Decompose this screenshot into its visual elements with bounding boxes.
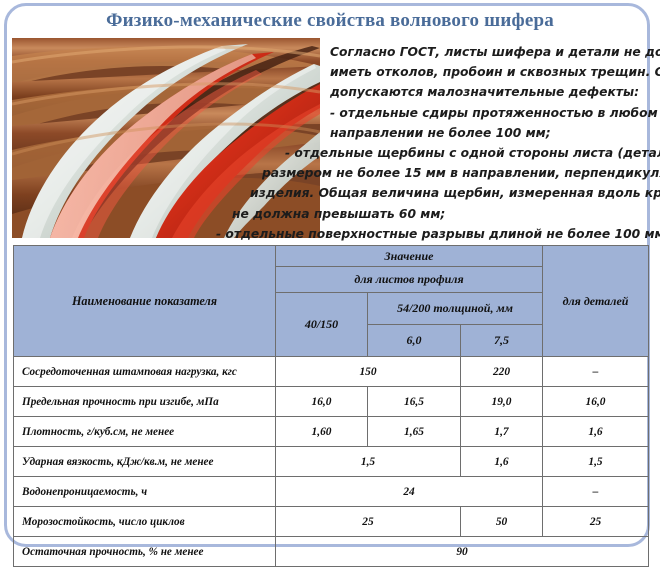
description-line: иметь отколов, пробоин и сквозных трещин… xyxy=(0,62,660,82)
row-value: 19,0 xyxy=(461,387,543,417)
header-cell-thickness-60: 6,0 xyxy=(368,325,461,357)
header-cell-value: Значение xyxy=(276,246,543,267)
header-cell-thickness-75: 7,5 xyxy=(461,325,543,357)
table-row: Сосредоточенная штамповая нагрузка, кгс … xyxy=(14,357,649,387)
row-value: 150 xyxy=(276,357,461,387)
description-line: - отдельные поверхностные разрывы длиной… xyxy=(0,224,660,244)
description-line: изделия. Общая величина щербин, измеренн… xyxy=(0,183,660,203)
row-value: 1,6 xyxy=(461,447,543,477)
row-value: 25 xyxy=(276,507,461,537)
row-value: 50 xyxy=(461,507,543,537)
row-value: 90 xyxy=(276,537,649,567)
table-row: Остаточная прочность, % не менее 90 xyxy=(14,537,649,567)
row-value: 25 xyxy=(543,507,649,537)
row-value: 1,5 xyxy=(543,447,649,477)
table-row: Морозостойкость, число циклов 25 50 25 xyxy=(14,507,649,537)
row-value: – xyxy=(543,357,649,387)
row-value: 16,0 xyxy=(276,387,368,417)
row-label: Морозостойкость, число циклов xyxy=(14,507,276,537)
header-cell-profile: для листов профиля xyxy=(276,267,543,293)
row-label: Предельная прочность при изгибе, мПа xyxy=(14,387,276,417)
table-row: Ударная вязкость, кДж/кв.м, не менее 1,5… xyxy=(14,447,649,477)
table-header-row-1: Наименование показателя Значение для дет… xyxy=(14,246,649,267)
row-value: – xyxy=(543,477,649,507)
description-line: допускаются малозначительные дефекты: xyxy=(0,82,660,102)
description-line: размером не более 15 мм в направлении, п… xyxy=(0,163,660,183)
header-cell-40-150: 40/150 xyxy=(276,293,368,357)
row-value: 1,60 xyxy=(276,417,368,447)
header-cell-54-200: 54/200 толщиной, мм xyxy=(368,293,543,325)
row-value: 1,65 xyxy=(368,417,461,447)
row-value: 1,7 xyxy=(461,417,543,447)
specification-table: Наименование показателя Значение для дет… xyxy=(13,245,649,567)
description-line: не должна превышать 60 мм; xyxy=(0,204,660,224)
table-row: Плотность, г/куб.см, не менее 1,60 1,65 … xyxy=(14,417,649,447)
header-cell-name: Наименование показателя xyxy=(14,246,276,357)
description-line: направлении не более 100 мм; xyxy=(0,123,660,143)
row-value: 1,6 xyxy=(543,417,649,447)
table-row: Предельная прочность при изгибе, мПа 16,… xyxy=(14,387,649,417)
description-text: Согласно ГОСТ, листы шифера и детали не … xyxy=(0,42,660,242)
description-line: - отдельные щербины с одной стороны лист… xyxy=(0,143,660,163)
header-cell-details: для деталей xyxy=(543,246,649,357)
row-value: 16,5 xyxy=(368,387,461,417)
row-value: 24 xyxy=(276,477,543,507)
page-title: Физико-механические свойства волнового ш… xyxy=(0,10,660,32)
row-label: Ударная вязкость, кДж/кв.м, не менее xyxy=(14,447,276,477)
row-label: Остаточная прочность, % не менее xyxy=(14,537,276,567)
row-value: 1,5 xyxy=(276,447,461,477)
row-label: Водонепроницаемость, ч xyxy=(14,477,276,507)
row-label: Плотность, г/куб.см, не менее xyxy=(14,417,276,447)
description-line: - отдельные сдиры протяженностью в любом xyxy=(0,103,660,123)
row-label: Сосредоточенная штамповая нагрузка, кгс xyxy=(14,357,276,387)
table-row: Водонепроницаемость, ч 24 – xyxy=(14,477,649,507)
description-line: Согласно ГОСТ, листы шифера и детали не … xyxy=(0,42,660,62)
row-value: 220 xyxy=(461,357,543,387)
row-value: 16,0 xyxy=(543,387,649,417)
